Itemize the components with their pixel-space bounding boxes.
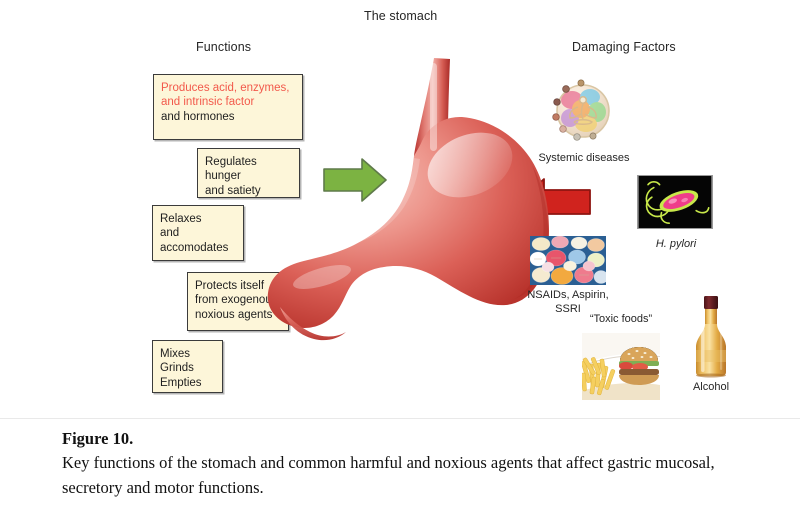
function-box-mixes-line1: Mixes bbox=[160, 347, 215, 361]
function-box-mixes-line3: Empties bbox=[160, 376, 215, 390]
nsaids-pills-label: NSAIDs, Aspirin, SSRI bbox=[516, 289, 620, 316]
figure-caption-text: Key functions of the stomach and common … bbox=[62, 450, 778, 500]
figure-canvas: The stomach Functions Damaging Factors P… bbox=[0, 0, 800, 418]
toxic-foods-image bbox=[582, 333, 660, 400]
alcohol-bottle-image bbox=[690, 296, 732, 378]
figure-title: The stomach bbox=[364, 9, 437, 23]
systemic-diseases-label: Systemic diseases bbox=[528, 152, 640, 166]
damaging-factors-column-heading: Damaging Factors bbox=[572, 40, 676, 54]
figure-caption-divider bbox=[0, 418, 800, 419]
function-box-relaxes-accomodates: Relaxes and accomodates bbox=[152, 205, 244, 261]
toxic-foods-label: “Toxic foods” bbox=[576, 313, 666, 327]
function-box-mixes-grinds-empties: Mixes Grinds Empties bbox=[152, 340, 223, 393]
systemic-diseases-image bbox=[548, 76, 618, 146]
function-box-relaxes-line2: and accomodates bbox=[160, 226, 236, 255]
figure-caption-label: Figure 10. bbox=[62, 428, 778, 450]
functions-column-heading: Functions bbox=[196, 40, 251, 54]
alcohol-label: Alcohol bbox=[682, 381, 740, 395]
stomach-illustration bbox=[262, 55, 552, 345]
h-pylori-image bbox=[637, 175, 713, 229]
h-pylori-label: H. pylori bbox=[632, 238, 720, 252]
function-box-mixes-line2: Grinds bbox=[160, 361, 215, 375]
figure-caption: Figure 10. Key functions of the stomach … bbox=[62, 428, 778, 500]
function-box-relaxes-line1: Relaxes bbox=[160, 212, 236, 226]
nsaids-pills-image bbox=[530, 236, 606, 285]
